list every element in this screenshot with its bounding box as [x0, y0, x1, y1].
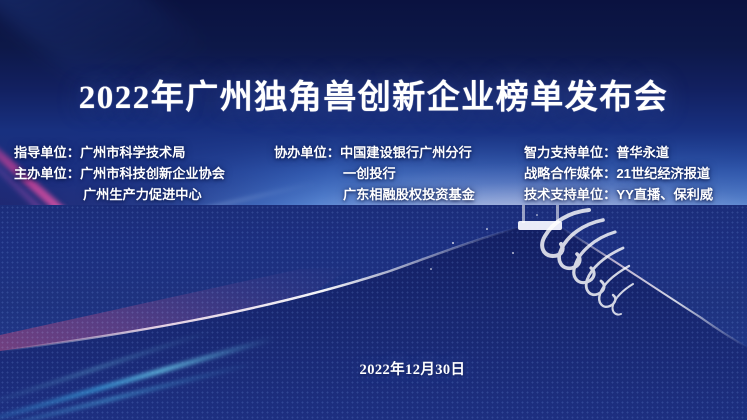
event-poster: Unicorns — [0, 0, 747, 420]
credit-row: 指导单位： 广州市科学技术局 — [14, 142, 274, 163]
credit-label — [274, 163, 343, 184]
credit-row: 主办单位： 广州市科技创新企业协会 — [14, 163, 274, 184]
credit-label: 智力支持单位： — [524, 142, 616, 163]
page-title: 2022年广州独角兽创新企业榜单发布会 — [0, 70, 747, 118]
credit-value: 广州市科学技术局 — [80, 142, 186, 163]
credit-label: 协办单位： — [274, 142, 340, 163]
credits-column-organizers: 指导单位： 广州市科学技术局 主办单位： 广州市科技创新企业协会 广州生产力促进… — [14, 142, 274, 205]
credits-column-co-organizers: 协办单位： 中国建设银行广州分行 一创投行 广东相融股权投资基金 — [274, 142, 524, 205]
credit-label — [14, 184, 83, 205]
sparkle-star — [512, 252, 514, 254]
sparkle-star — [452, 242, 454, 244]
credit-label: 战略合作媒体： — [524, 163, 616, 184]
credit-row: 一创投行 — [274, 163, 524, 184]
credit-value: 广州市科技创新企业协会 — [80, 163, 225, 184]
credit-label — [274, 184, 343, 205]
credit-value: 21世纪经济报道 — [616, 163, 710, 184]
credit-row: 战略合作媒体： 21世纪经济报道 — [524, 163, 713, 184]
credit-value: 中国建设银行广州分行 — [340, 142, 472, 163]
sparkle-star — [486, 228, 488, 230]
sparkle-star — [430, 268, 432, 270]
credit-row: 协办单位： 中国建设银行广州分行 — [274, 142, 524, 163]
auspicious-cloud-swirl — [529, 206, 659, 318]
credit-label: 指导单位： — [14, 142, 80, 163]
credit-value: YY直播、保利威 — [616, 184, 713, 205]
credit-row: 智力支持单位： 普华永道 — [524, 142, 713, 163]
credit-row: 广东相融股权投资基金 — [274, 184, 524, 205]
credits-block: 指导单位： 广州市科学技术局 主办单位： 广州市科技创新企业协会 广州生产力促进… — [0, 142, 747, 205]
credit-value: 一创投行 — [343, 163, 396, 184]
credit-row: 广州生产力促进中心 — [14, 184, 274, 205]
credit-value: 广州生产力促进中心 — [83, 184, 202, 205]
credit-value: 普华永道 — [616, 142, 669, 163]
credit-value: 广东相融股权投资基金 — [343, 184, 475, 205]
credit-row: 技术支持单位： YY直播、保利威 — [524, 184, 713, 205]
sparkle-star — [536, 214, 538, 216]
credit-label: 主办单位： — [14, 163, 80, 184]
event-date: 2022年12月30日 — [0, 358, 747, 379]
credit-label: 技术支持单位： — [524, 184, 616, 205]
credits-column-support: 智力支持单位： 普华永道 战略合作媒体： 21世纪经济报道 技术支持单位： YY… — [524, 142, 713, 205]
